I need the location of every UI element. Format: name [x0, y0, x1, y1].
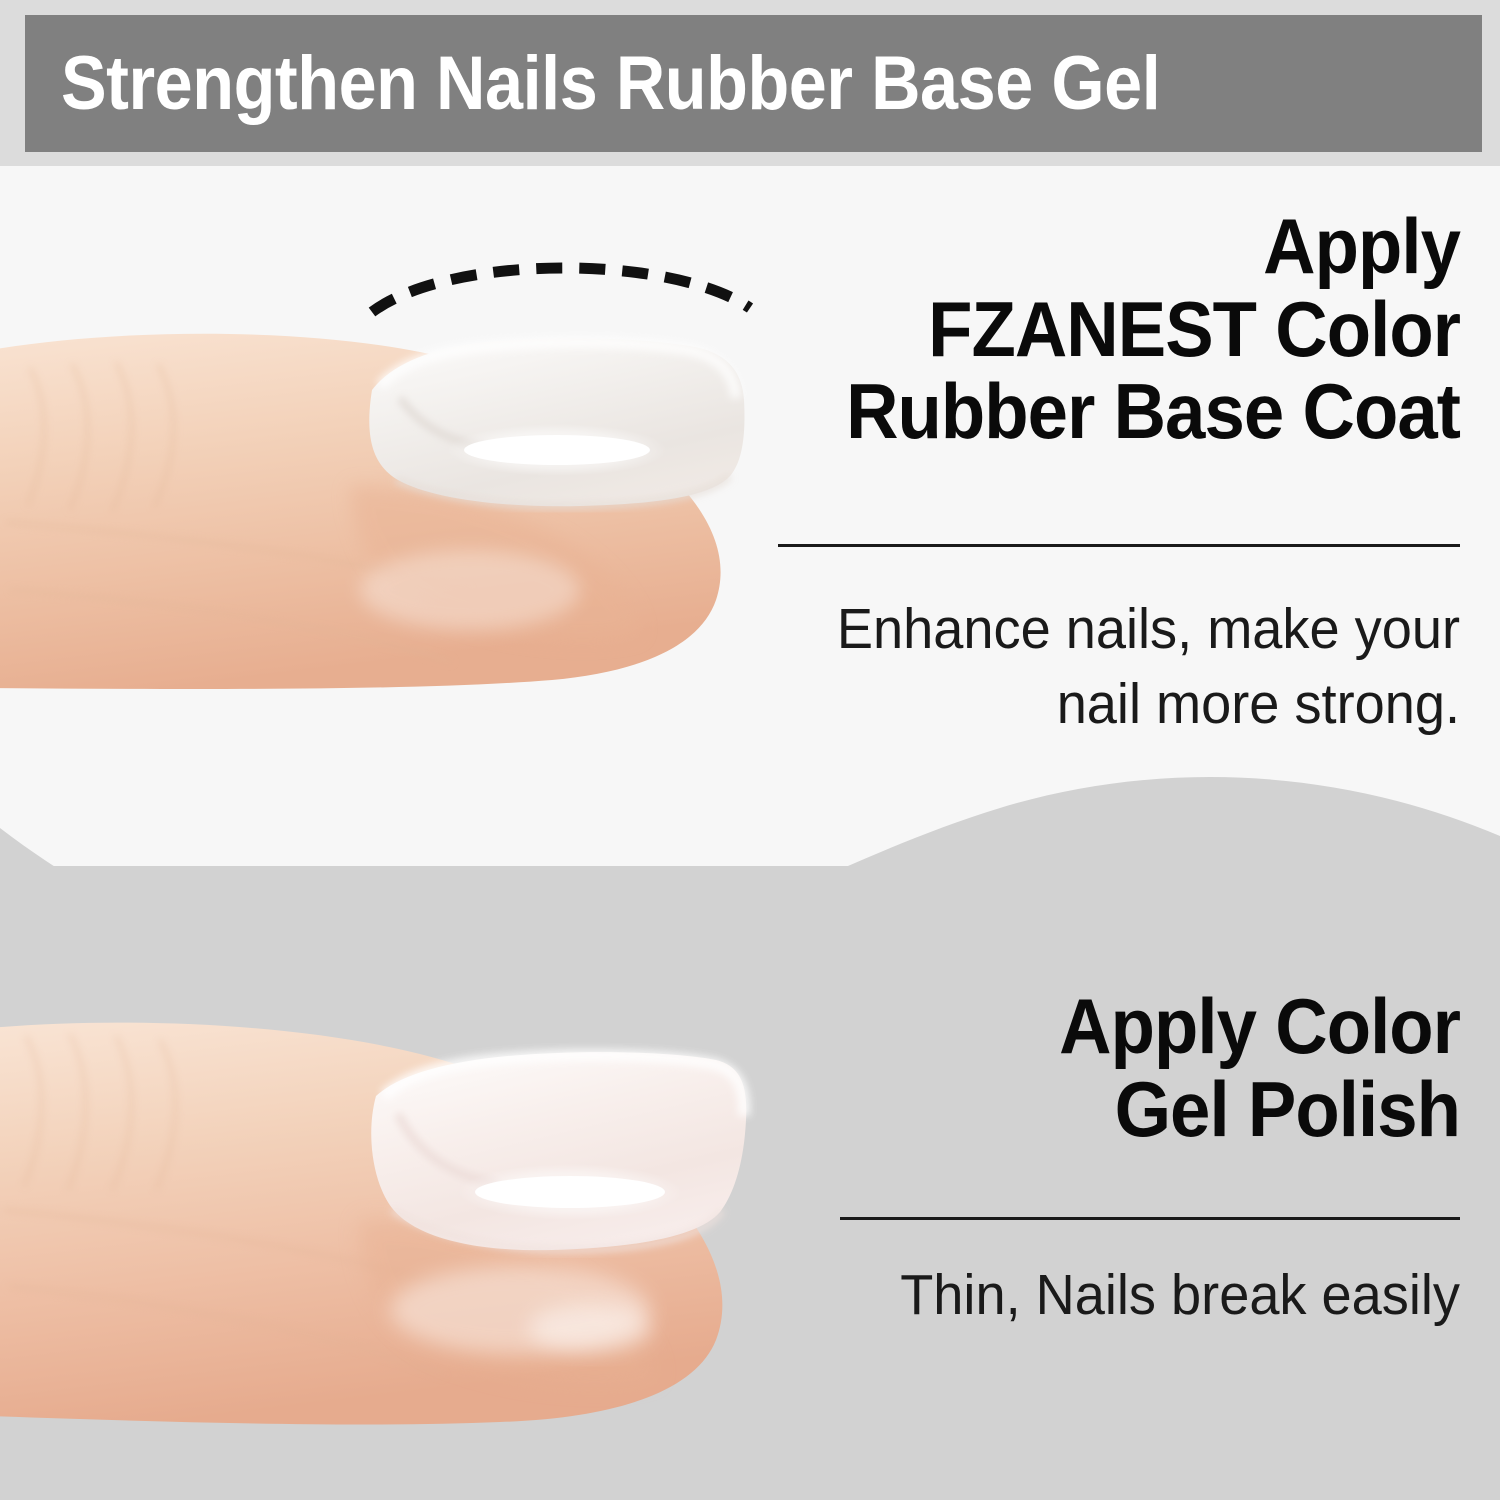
step-2-headline-group: Apply Color Gel Polish — [760, 985, 1460, 1150]
step-2-caption-line-1: Thin, Nails break easily — [795, 1258, 1460, 1333]
section-color-gel-polish — [0, 866, 1500, 1500]
step-1-caption-line-1: Enhance nails, make your — [795, 592, 1460, 667]
step-1-headline-line-1: Apply — [809, 205, 1460, 288]
step-1-caption-line-2: nail more strong. — [795, 667, 1460, 742]
header-banner: Strengthen Nails Rubber Base Gel — [25, 15, 1482, 152]
header-strip: Strengthen Nails Rubber Base Gel — [0, 0, 1500, 166]
step-1-headline-group: Apply FZANEST Color Rubber Base Coat — [760, 205, 1460, 453]
step-2-headline-line-2: Gel Polish — [809, 1068, 1460, 1151]
nail-curve-dashed-arc-icon — [360, 240, 760, 330]
step-2-divider — [840, 1217, 1460, 1220]
product-infographic: Strengthen Nails Rubber Base Gel — [0, 0, 1500, 1500]
step-1-headline-line-3: Rubber Base Coat — [809, 370, 1460, 453]
step-1-headline-line-2: FZANEST Color — [809, 288, 1460, 371]
step-2-caption-group: Thin, Nails break easily — [760, 1258, 1460, 1333]
step-2-headline-line-1: Apply Color — [809, 985, 1460, 1068]
page-title: Strengthen Nails Rubber Base Gel — [25, 46, 1160, 122]
step-1-caption-group: Enhance nails, make your nail more stron… — [760, 592, 1460, 742]
step-1-divider — [778, 544, 1460, 547]
